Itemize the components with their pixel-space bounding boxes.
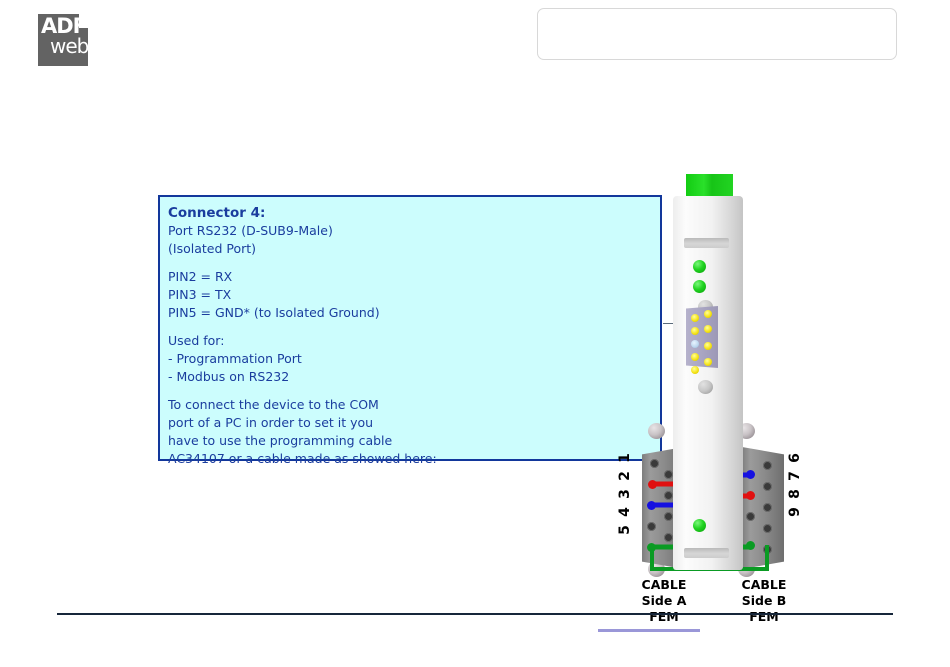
cable-side-b-line-2: Side B [724, 593, 804, 609]
device-screw-bottom [698, 380, 713, 394]
side-a-number-4: 4 [616, 505, 634, 519]
cable-side-b-caption: CABLE Side B FEM [724, 577, 804, 625]
adfweb-logo: ADF web [38, 14, 88, 66]
side-b-number-9: 9 [786, 505, 804, 519]
spacer-1 [168, 258, 458, 268]
side-b-number-7: 7 [786, 469, 804, 483]
cable-side-a-line-3: FEM [624, 609, 704, 625]
used-for-item-1: - Programmation Port [168, 350, 458, 368]
device-pin-8 [704, 342, 712, 350]
device-led-1 [693, 260, 706, 273]
cable-side-b-line-3: FEM [724, 609, 804, 625]
side-b-number-8: 8 [786, 487, 804, 501]
cable-side-a-line-2: Side A [624, 593, 704, 609]
footer-divider [57, 613, 893, 615]
device-slot-top [684, 238, 729, 248]
logo-mark-icon [79, 14, 88, 28]
cable-side-b-line-1: CABLE [724, 577, 804, 593]
device-pin-4 [691, 353, 699, 361]
device-power-connector [686, 174, 733, 198]
device-slot-bottom [684, 548, 729, 558]
pin-line-3: PIN3 = TX [168, 286, 458, 304]
device-pin-7 [704, 325, 712, 333]
side-a-number-2: 2 [616, 469, 634, 483]
device-pin-6 [704, 310, 712, 318]
device-pin-9 [704, 358, 712, 366]
header-title-box [537, 8, 897, 60]
note-line-1: To connect the device to the COM [168, 396, 458, 414]
connector-4-info-text: Connector 4: Port RS232 (D-SUB9-Male) (I… [168, 204, 458, 468]
device-body [673, 196, 743, 570]
connector-4-subtitle-2: (Isolated Port) [168, 240, 458, 258]
connector-4-title: Connector 4: [168, 204, 458, 222]
connector-4-info-box: Connector 4: Port RS232 (D-SUB9-Male) (I… [158, 195, 662, 461]
side-a-number-5: 5 [616, 523, 634, 537]
cable-side-a-line-1: CABLE [624, 577, 704, 593]
device-led-2 [693, 280, 706, 293]
side-b-number-6: 6 [786, 451, 804, 465]
used-for-heading: Used for: [168, 332, 458, 350]
note-line-2: port of a PC in order to set it you [168, 414, 458, 432]
logo-text-web: web [50, 35, 88, 57]
spacer-3 [168, 386, 458, 396]
connector-4-subtitle-1: Port RS232 (D-SUB9-Male) [168, 222, 458, 240]
note-line-4: AC34107 or a cable made as showed here: [168, 450, 458, 468]
side-b-pin-numbers: 6 7 8 9 [788, 449, 802, 521]
device-led-3 [693, 519, 706, 532]
note-line-3: have to use the programming cable [168, 432, 458, 450]
pin-line-5: PIN5 = GND* (to Isolated Ground) [168, 304, 458, 322]
device-pin-5 [691, 366, 699, 374]
device-pin-2 [691, 327, 699, 335]
device-pin-3 [691, 340, 699, 348]
cable-side-a-caption: CABLE Side A FEM [624, 577, 704, 625]
device-pin-1 [691, 314, 699, 322]
footer-link-underline[interactable] [598, 629, 700, 632]
side-a-number-3: 3 [616, 487, 634, 501]
side-a-number-1: 1 [616, 451, 634, 465]
spacer-2 [168, 322, 458, 332]
side-a-pin-numbers: 1 2 3 4 5 [618, 449, 632, 539]
pin-line-2: PIN2 = RX [168, 268, 458, 286]
device-module-image [673, 174, 743, 570]
used-for-item-2: - Modbus on RS232 [168, 368, 458, 386]
